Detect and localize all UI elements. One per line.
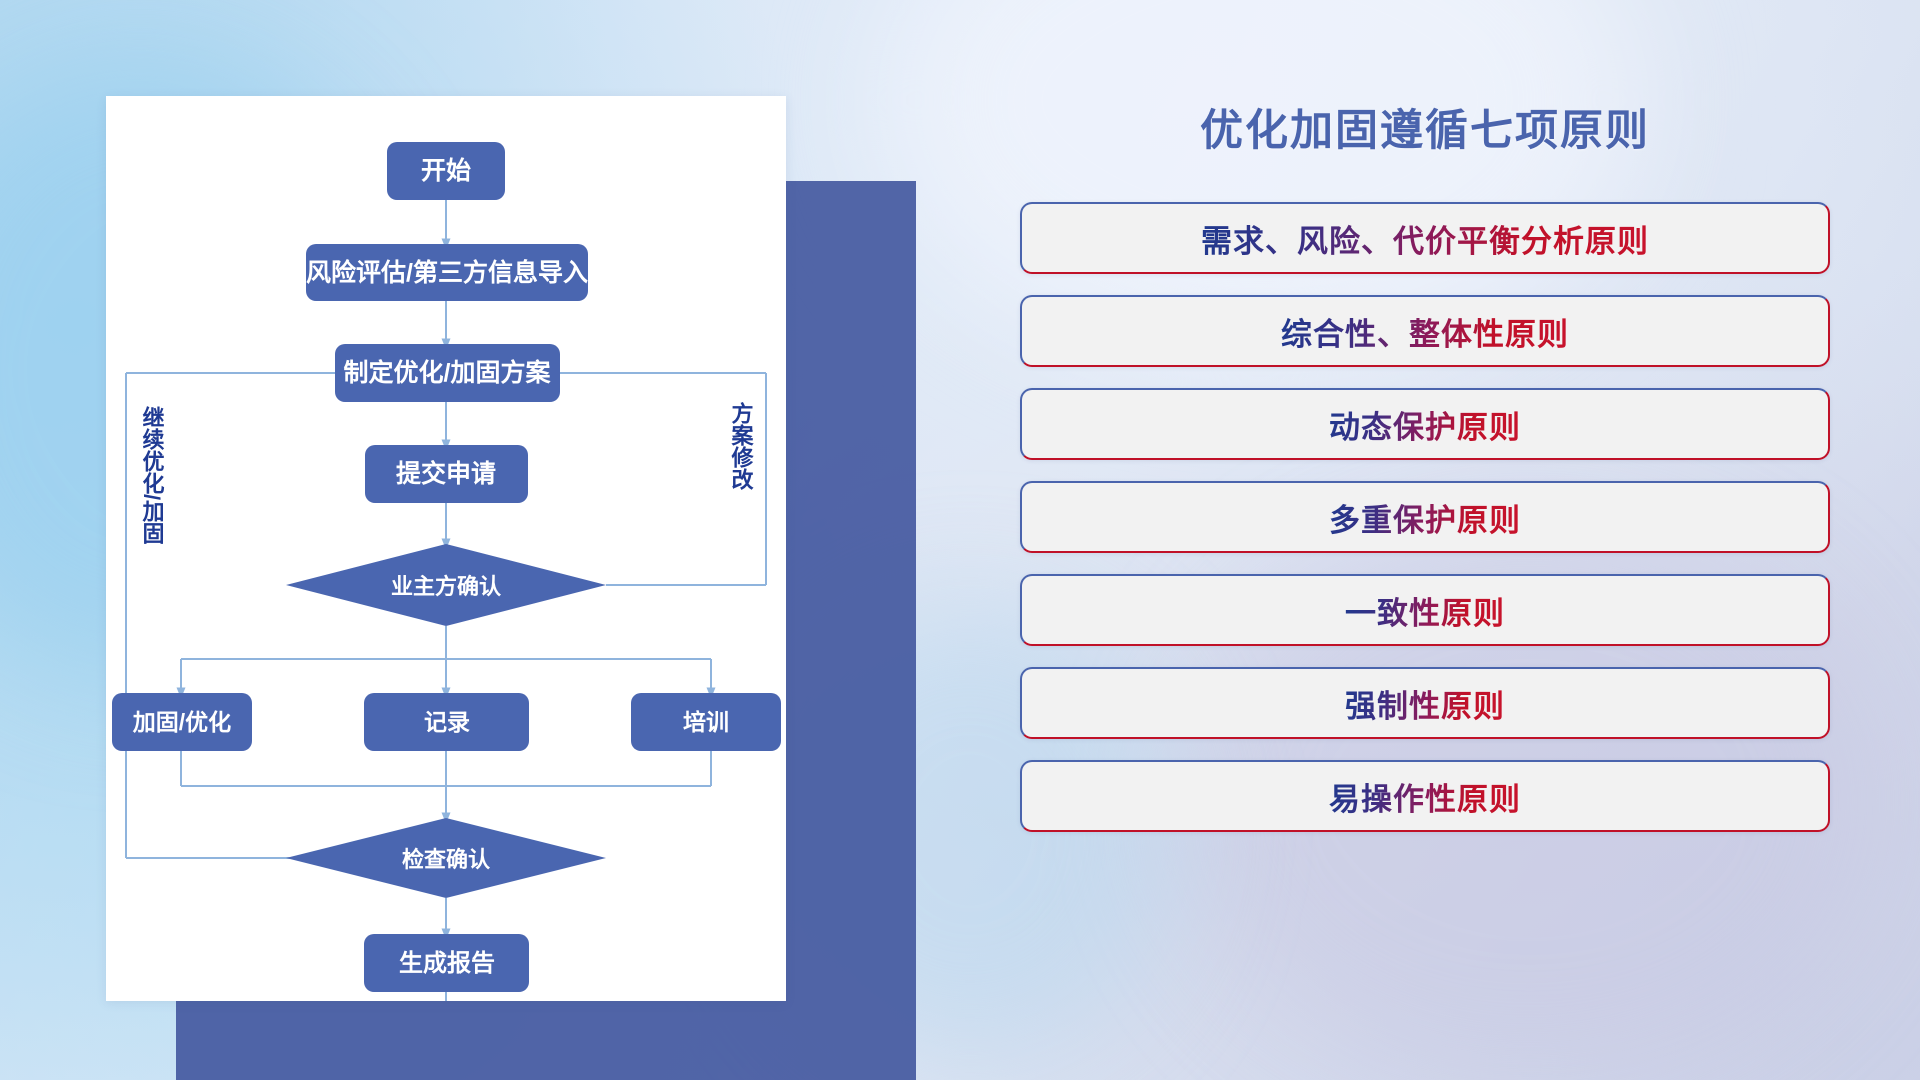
flow-side-label-right: 方案修改 <box>729 401 755 491</box>
principles-panel: 优化加固遵循七项原则 需求、风险、代价平衡分析原则 综合性、整体性原则 动态保护… <box>1020 96 1830 1006</box>
principle-label: 强制性原则 <box>1345 681 1505 726</box>
flowchart-panel: 开始 风险评估/第三方信息导入 制定优化/加固方案 <box>106 96 786 996</box>
principle-label: 一致性原则 <box>1345 588 1505 633</box>
svg-text:提交申请: 提交申请 <box>396 459 496 488</box>
slide-canvas: 开始 风险评估/第三方信息导入 制定优化/加固方案 <box>0 0 1920 1080</box>
flow-node-plan: 制定优化/加固方案 <box>335 344 560 402</box>
flow-side-label-left: 继续优化/加固 <box>140 405 166 545</box>
principle-label: 多重保护原则 <box>1329 495 1521 540</box>
flowchart-canvas: 开始 风险评估/第三方信息导入 制定优化/加固方案 <box>106 96 786 1001</box>
flow-node-start: 开始 <box>387 142 505 200</box>
svg-text:风险评估/第三方信息导入: 风险评估/第三方信息导入 <box>306 258 588 287</box>
flow-node-risk: 风险评估/第三方信息导入 <box>306 244 588 301</box>
flow-node-training: 培训 <box>631 693 781 751</box>
principle-item-3[interactable]: 动态保护原则 <box>1020 388 1830 460</box>
svg-text:加固/优化: 加固/优化 <box>132 709 231 735</box>
svg-text:培训: 培训 <box>683 709 729 735</box>
principle-label: 综合性、整体性原则 <box>1281 309 1569 354</box>
principle-label: 动态保护原则 <box>1329 402 1521 447</box>
flow-node-owner-confirm: 业主方确认 <box>286 544 606 626</box>
svg-text:业主方确认: 业主方确认 <box>391 574 501 599</box>
principle-label: 需求、风险、代价平衡分析原则 <box>1201 216 1649 261</box>
svg-text:检查确认: 检查确认 <box>402 847 490 872</box>
principle-list: 需求、风险、代价平衡分析原则 综合性、整体性原则 动态保护原则 多重保护原则 一… <box>1020 202 1830 832</box>
principle-item-2[interactable]: 综合性、整体性原则 <box>1020 295 1830 367</box>
flow-node-check-confirm: 检查确认 <box>286 818 606 898</box>
flow-node-submit: 提交申请 <box>365 445 528 503</box>
flow-node-reinforce: 加固/优化 <box>112 693 252 751</box>
svg-text:记录: 记录 <box>424 709 470 735</box>
principle-item-4[interactable]: 多重保护原则 <box>1020 481 1830 553</box>
svg-text:制定优化/加固方案: 制定优化/加固方案 <box>344 358 552 387</box>
flow-node-report: 生成报告 <box>364 934 529 992</box>
svg-text:生成报告: 生成报告 <box>399 950 495 977</box>
principle-label: 易操作性原则 <box>1329 774 1521 819</box>
svg-text:开始: 开始 <box>421 157 471 185</box>
flowchart-card: 开始 风险评估/第三方信息导入 制定优化/加固方案 <box>106 96 786 1001</box>
flow-node-record: 记录 <box>364 693 529 751</box>
principle-item-6[interactable]: 强制性原则 <box>1020 667 1830 739</box>
principle-item-5[interactable]: 一致性原则 <box>1020 574 1830 646</box>
principle-item-7[interactable]: 易操作性原则 <box>1020 760 1830 832</box>
principle-item-1[interactable]: 需求、风险、代价平衡分析原则 <box>1020 202 1830 274</box>
page-title: 优化加固遵循七项原则 <box>1020 96 1830 158</box>
